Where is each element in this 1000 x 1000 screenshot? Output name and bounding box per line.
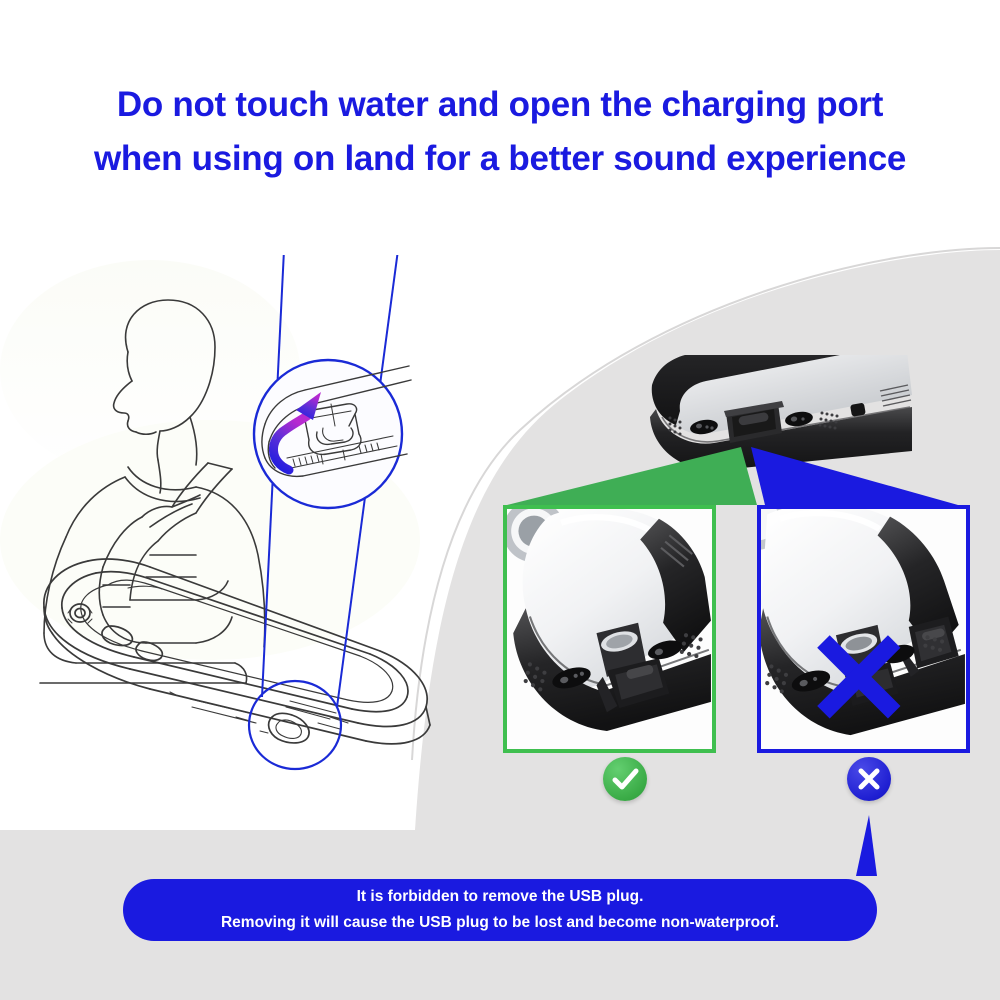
warning-banner-line-2: Removing it will cause the USB plug to b… — [221, 910, 779, 936]
close-icon — [847, 757, 891, 801]
status-badge-correct — [603, 757, 647, 801]
check-icon — [603, 757, 647, 801]
status-badge-incorrect — [847, 757, 891, 801]
photo-usb-plug-installed — [507, 509, 712, 749]
blue-wedge — [751, 447, 958, 505]
warning-banner: It is forbidden to remove the USB plug. … — [123, 879, 877, 941]
photo-panel-correct — [503, 505, 716, 753]
arrow-wedges — [0, 0, 1000, 1000]
photo-panel-incorrect — [757, 505, 970, 753]
green-wedge — [507, 447, 757, 505]
warning-banner-line-1: It is forbidden to remove the USB plug. — [357, 884, 644, 910]
infographic-page: Do not touch water and open the charging… — [0, 0, 1000, 1000]
photo-usb-plug-removed — [761, 509, 966, 749]
banner-to-cross-arrow — [856, 815, 877, 876]
